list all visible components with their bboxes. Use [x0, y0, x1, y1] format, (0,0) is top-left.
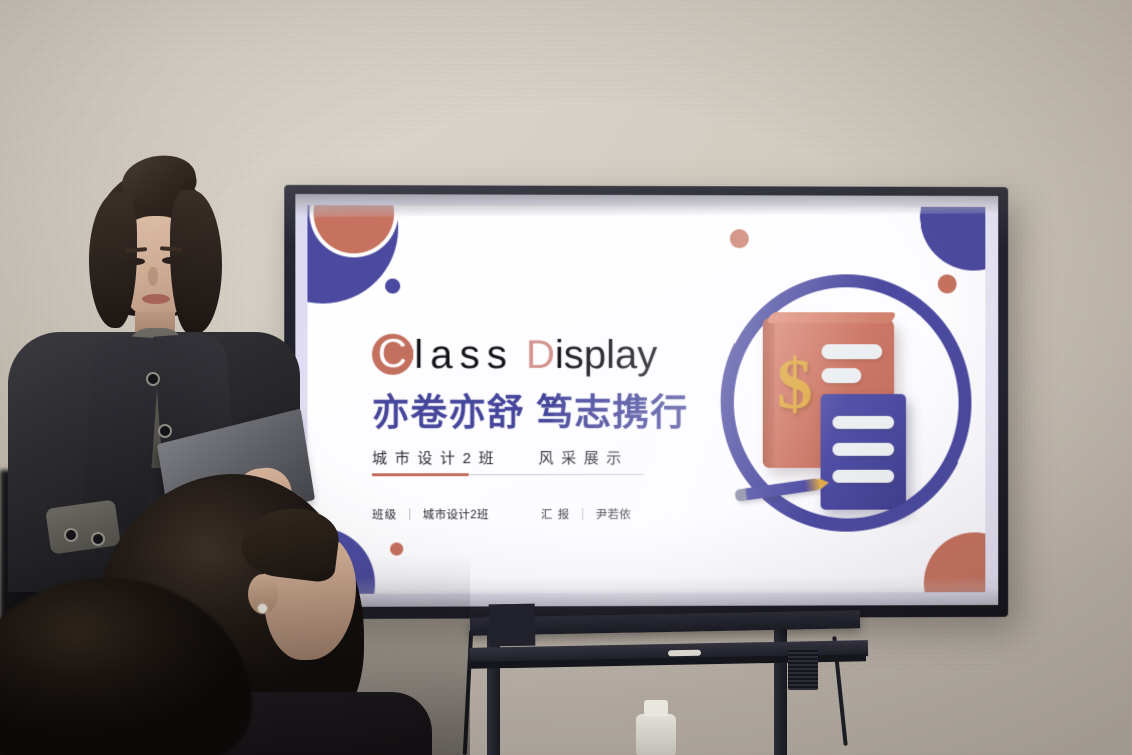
tv-mount-bracket	[489, 604, 536, 647]
tv-stand-speaker-mesh	[788, 648, 818, 690]
presenter-button	[66, 530, 76, 540]
bottle-body	[636, 714, 676, 755]
audience-member-left	[0, 578, 260, 755]
classroom-scene: $	[0, 0, 1132, 755]
audience-hair	[0, 578, 252, 755]
presenter-lips	[142, 294, 170, 304]
presenter-button	[148, 374, 158, 384]
presenter-eye-right	[162, 257, 180, 264]
remote-control[interactable]	[668, 650, 701, 657]
water-bottle	[636, 700, 676, 755]
tv-stand-post-right	[774, 616, 787, 755]
presenter-eye-left	[127, 258, 145, 265]
presenter-button	[160, 426, 170, 436]
presenter-nose	[148, 267, 158, 286]
